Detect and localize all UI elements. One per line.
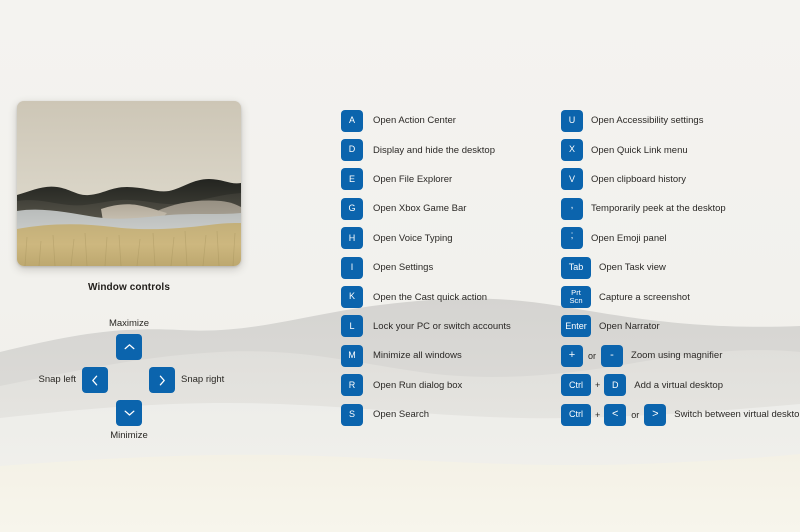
maximize-label: Maximize <box>18 318 240 329</box>
shortcut-row: XOpen Quick Link menu <box>561 135 800 164</box>
shortcut-keys: R <box>341 374 363 396</box>
shortcut-description: Open Narrator <box>599 321 660 332</box>
key-cap[interactable]: PrtScn <box>561 286 591 308</box>
key-cap[interactable]: Tab <box>561 257 591 279</box>
key-cap[interactable]: G <box>341 198 363 220</box>
key-or-separator: or <box>583 351 601 361</box>
key-cap[interactable]: D <box>604 374 626 396</box>
window-controls-diagram: Window controls Maximize Snap left Snap … <box>18 282 240 442</box>
minimize-button[interactable] <box>116 400 142 426</box>
key-cap[interactable]: Ctrl <box>561 374 591 396</box>
key-plus-separator: + <box>591 410 604 420</box>
key-cap[interactable]: K <box>341 286 363 308</box>
snap-left-button[interactable] <box>82 367 108 393</box>
shortcut-keys: S <box>341 404 363 426</box>
shortcut-row: ,Temporarily peek at the desktop <box>561 194 800 223</box>
key-cap[interactable]: + <box>561 345 583 367</box>
key-cap[interactable]: D <box>341 139 363 161</box>
shortcut-keys: I <box>341 257 363 279</box>
shortcut-description: Open Action Center <box>373 115 456 126</box>
shortcut-list-column-1: AOpen Action CenterDDisplay and hide the… <box>341 106 363 429</box>
shortcut-keys: V <box>561 168 583 190</box>
shortcut-row: SOpen Search <box>341 400 363 429</box>
shortcut-keys: H <box>341 227 363 249</box>
shortcut-keys: D <box>341 139 363 161</box>
screenshot-root: Window controls Maximize Snap left Snap … <box>0 0 800 532</box>
shortcut-row: LLock your PC or switch accounts <box>341 312 363 341</box>
key-cap[interactable]: < <box>604 404 626 426</box>
shortcut-keys: K <box>341 286 363 308</box>
chevron-left-icon <box>91 375 99 386</box>
shortcut-description: Zoom using magnifier <box>631 350 722 361</box>
shortcut-description: Open Voice Typing <box>373 233 453 244</box>
chevron-right-icon <box>158 375 166 386</box>
shortcut-description: Display and hide the desktop <box>373 145 495 156</box>
key-cap[interactable]: M <box>341 345 363 367</box>
shortcut-description: Minimize all windows <box>373 350 462 361</box>
shortcut-keys: +or- <box>561 345 623 367</box>
key-plus-separator: + <box>591 380 604 390</box>
shortcut-row: KOpen the Cast quick action <box>341 282 363 311</box>
shortcut-row: MMinimize all windows <box>341 341 363 370</box>
shortcut-list-column-2: UOpen Accessibility settingsXOpen Quick … <box>561 106 800 429</box>
shortcut-description: Open Xbox Game Bar <box>373 203 466 214</box>
shortcut-keys: Tab <box>561 257 591 279</box>
snap-right-label: Snap right <box>181 374 224 385</box>
shortcut-keys: PrtScn <box>561 286 591 308</box>
key-cap[interactable]: ; <box>561 227 583 249</box>
shortcut-row: VOpen clipboard history <box>561 165 800 194</box>
shortcut-keys: , <box>561 198 583 220</box>
shortcut-description: Open File Explorer <box>373 174 452 185</box>
shortcut-row: TabOpen Task view <box>561 253 800 282</box>
shortcut-keys: Ctrl+D <box>561 374 626 396</box>
key-or-separator: or <box>626 410 644 420</box>
shortcut-row: PrtScnCapture a screenshot <box>561 282 800 311</box>
key-cap[interactable]: L <box>341 315 363 337</box>
key-cap[interactable]: V <box>561 168 583 190</box>
shortcut-description: Open Task view <box>599 262 666 273</box>
shortcut-row: UOpen Accessibility settings <box>561 106 800 135</box>
key-cap[interactable]: I <box>341 257 363 279</box>
shortcut-keys: X <box>561 139 583 161</box>
key-cap[interactable]: E <box>341 168 363 190</box>
key-cap[interactable]: A <box>341 110 363 132</box>
snap-left-label: Snap left <box>18 374 76 385</box>
shortcut-row: EnterOpen Narrator <box>561 312 800 341</box>
shortcut-description: Switch between virtual desktops <box>674 409 800 420</box>
shortcut-row: ROpen Run dialog box <box>341 371 363 400</box>
shortcut-keys: Enter <box>561 315 591 337</box>
shortcut-row: +or-Zoom using magnifier <box>561 341 800 370</box>
shortcut-description: Open Run dialog box <box>373 380 462 391</box>
shortcut-keys: E <box>341 168 363 190</box>
key-cap[interactable]: Enter <box>561 315 591 337</box>
key-cap-line: Scn <box>569 297 582 306</box>
shortcut-row: GOpen Xbox Game Bar <box>341 194 363 223</box>
shortcut-description: Open Emoji panel <box>591 233 667 244</box>
shortcut-description: Open Settings <box>373 262 433 273</box>
key-cap[interactable]: X <box>561 139 583 161</box>
key-cap[interactable]: - <box>601 345 623 367</box>
key-cap[interactable]: S <box>341 404 363 426</box>
key-cap[interactable]: R <box>341 374 363 396</box>
shortcut-keys: L <box>341 315 363 337</box>
shortcut-description: Capture a screenshot <box>599 292 690 303</box>
shortcut-description: Open the Cast quick action <box>373 292 487 303</box>
chevron-up-icon <box>124 343 135 351</box>
shortcut-row: DDisplay and hide the desktop <box>341 135 363 164</box>
key-cap[interactable]: U <box>561 110 583 132</box>
shortcut-description: Add a virtual desktop <box>634 380 723 391</box>
shortcut-row: Ctrl+<or>Switch between virtual desktops <box>561 400 800 429</box>
shortcut-row: IOpen Settings <box>341 253 363 282</box>
maximize-button[interactable] <box>116 334 142 360</box>
shortcut-description: Open Accessibility settings <box>591 115 703 126</box>
key-cap[interactable]: > <box>644 404 666 426</box>
shortcut-keys: M <box>341 345 363 367</box>
shortcut-description: Open Search <box>373 409 429 420</box>
snap-right-button[interactable] <box>149 367 175 393</box>
shortcut-keys: ; <box>561 227 583 249</box>
shortcut-keys: Ctrl+<or> <box>561 404 666 426</box>
shortcut-row: ;Open Emoji panel <box>561 224 800 253</box>
key-cap[interactable]: Ctrl <box>561 404 591 426</box>
shortcut-row: EOpen File Explorer <box>341 165 363 194</box>
shortcut-row: Ctrl+DAdd a virtual desktop <box>561 371 800 400</box>
window-controls-title: Window controls <box>18 282 240 293</box>
shortcut-description: Open clipboard history <box>591 174 686 185</box>
shortcut-keys: A <box>341 110 363 132</box>
shortcut-description: Lock your PC or switch accounts <box>373 321 511 332</box>
shortcut-row: AOpen Action Center <box>341 106 363 135</box>
shortcut-keys: U <box>561 110 583 132</box>
minimize-label: Minimize <box>18 430 240 441</box>
chevron-down-icon <box>124 409 135 417</box>
shortcut-description: Temporarily peek at the desktop <box>591 203 726 214</box>
key-cap[interactable]: , <box>561 198 583 220</box>
shortcut-description: Open Quick Link menu <box>591 145 688 156</box>
key-cap[interactable]: H <box>341 227 363 249</box>
shortcut-row: HOpen Voice Typing <box>341 224 363 253</box>
wallpaper-thumbnail <box>17 101 241 266</box>
shortcut-keys: G <box>341 198 363 220</box>
